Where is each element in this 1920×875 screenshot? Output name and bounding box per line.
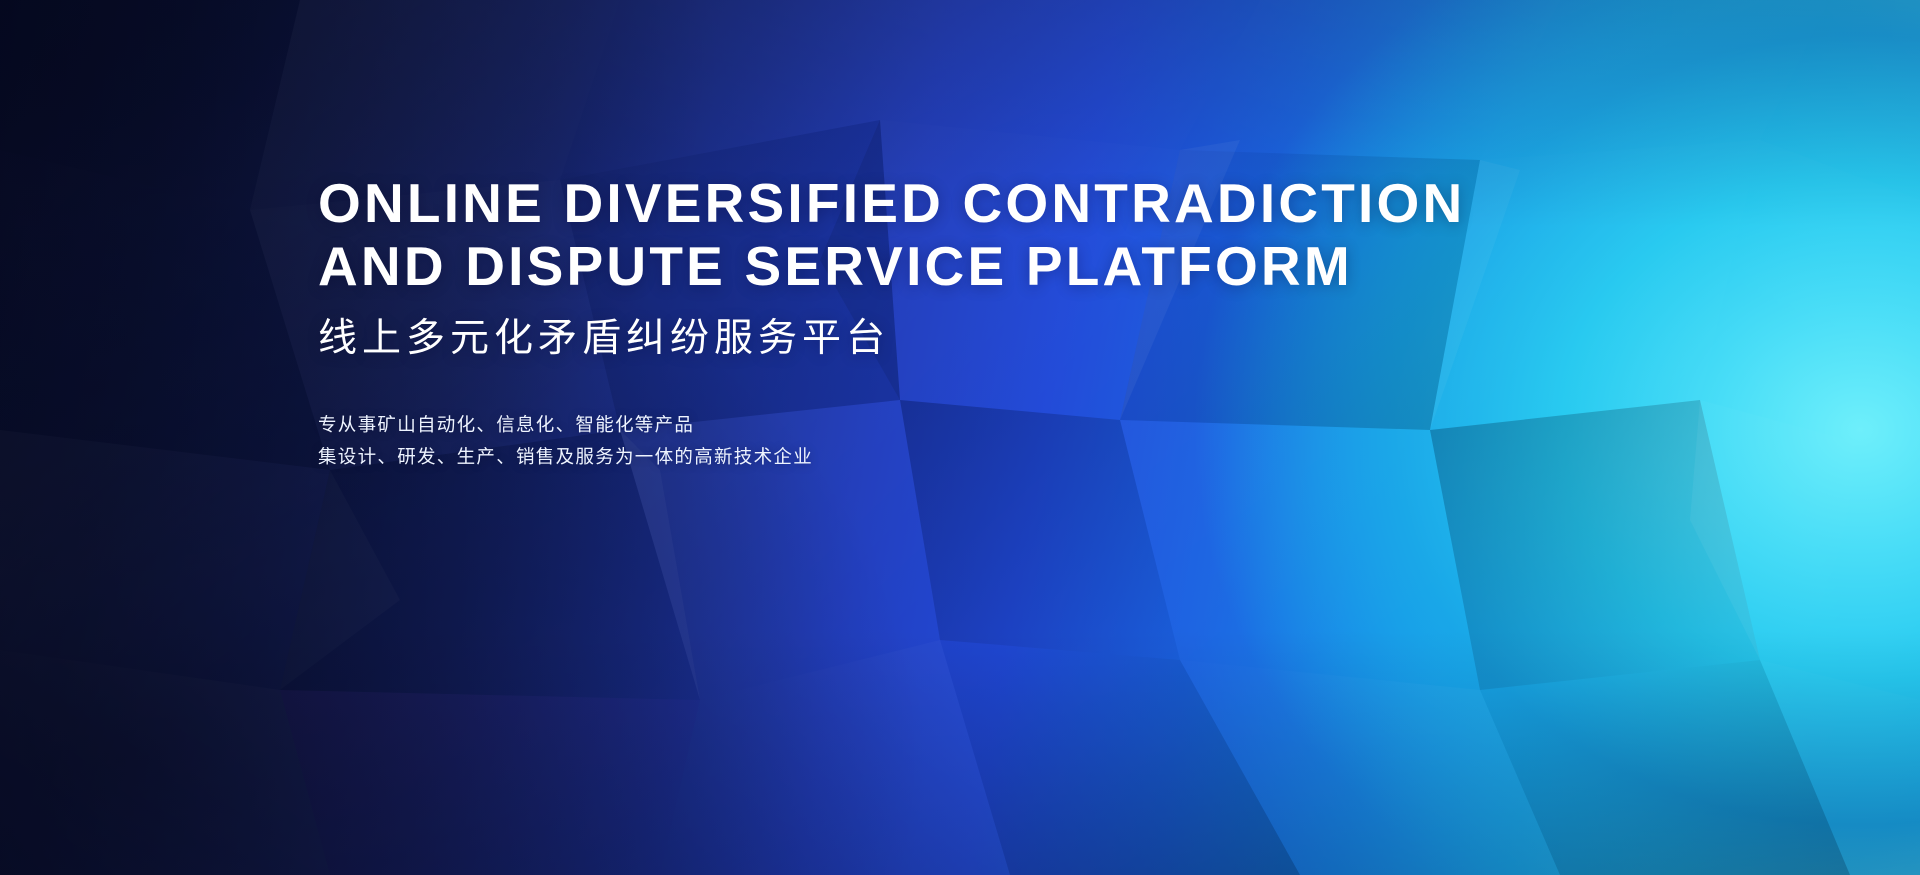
description-line-2: 集设计、研发、生产、销售及服务为一体的高新技术企业 — [318, 441, 1618, 473]
hero-banner: ONLINE DIVERSIFIED CONTRADICTIONAND DISP… — [0, 0, 1920, 875]
headline-line-1: ONLINE DIVERSIFIED CONTRADICTION — [318, 172, 1465, 234]
hero-subtitle-zh: 线上多元化矛盾纠纷服务平台 — [318, 314, 1618, 364]
hero-headline-en: ONLINE DIVERSIFIED CONTRADICTIONAND DISP… — [318, 172, 1618, 298]
description-line-1: 专从事矿山自动化、信息化、智能化等产品 — [318, 409, 1618, 441]
headline-line-2: AND DISPUTE SERVICE PLATFORM — [318, 235, 1353, 297]
hero-text-block: ONLINE DIVERSIFIED CONTRADICTIONAND DISP… — [318, 172, 1618, 473]
hero-description: 专从事矿山自动化、信息化、智能化等产品 集设计、研发、生产、销售及服务为一体的高… — [318, 409, 1618, 473]
